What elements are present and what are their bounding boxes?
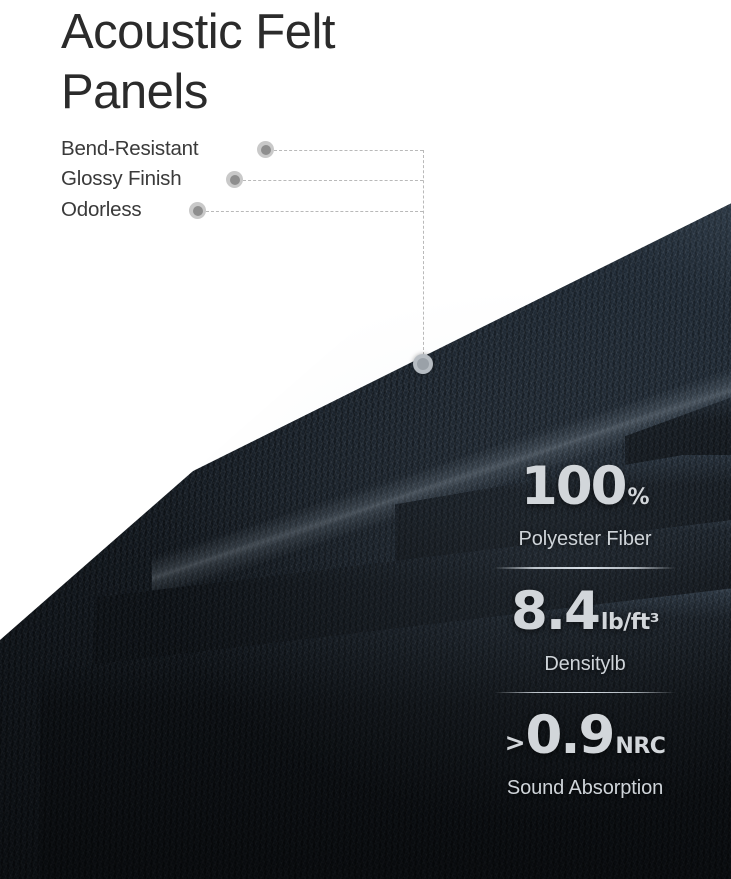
stat-value-row: 8.4lb/ft³: [470, 583, 700, 651]
stat-divider-1: [494, 567, 676, 569]
stat-number: 100: [521, 458, 626, 515]
product-marketing-image: Acoustic Felt Panels Bend-Resistant Glos…: [0, 0, 731, 879]
stat-label: Densitylb: [470, 653, 700, 676]
stat-polyester-fiber: 100% Polyester Fiber: [470, 458, 700, 551]
stat-density: 8.4lb/ft³ Densitylb: [470, 583, 700, 676]
stat-number: 8.4: [511, 583, 599, 640]
callout-dash-glossy-finish: [243, 180, 423, 181]
callout-dot-odorless: [189, 202, 206, 219]
stat-value-row: 100%: [470, 458, 700, 526]
feature-callout-group: Bend-Resistant Glossy Finish Odorless: [0, 0, 731, 420]
stat-unit: NRC: [615, 718, 665, 775]
callout-dash-bend-resistant: [274, 150, 423, 151]
callout-label: Glossy Finish: [61, 167, 181, 191]
product-stats-overlay: 100% Polyester Fiber 8.4lb/ft³ Densitylb…: [470, 458, 700, 800]
stat-value-row: >0.9NRC: [470, 707, 700, 775]
callout-dot-bend-resistant: [257, 141, 274, 158]
callout-bend-resistant: Bend-Resistant: [61, 136, 198, 162]
callout-glossy-finish: Glossy Finish: [61, 166, 181, 192]
stat-sound-absorption: >0.9NRC Sound Absorption: [470, 707, 700, 800]
callout-dash-odorless: [206, 211, 423, 212]
stat-divider-2: [494, 692, 676, 694]
callout-odorless: Odorless: [61, 197, 141, 223]
stat-unit: lb/ft³: [601, 594, 659, 651]
stat-number: 0.9: [526, 707, 614, 764]
stat-label: Polyester Fiber: [470, 528, 700, 551]
callout-vertical-connector: [423, 150, 424, 355]
callout-endpoint-marker: [413, 354, 433, 374]
stat-prefix: >: [505, 714, 524, 771]
callout-label: Bend-Resistant: [61, 137, 198, 161]
callout-label: Odorless: [61, 198, 141, 222]
callout-dot-glossy-finish: [226, 171, 243, 188]
stat-label: Sound Absorption: [470, 777, 700, 800]
stat-unit: %: [628, 469, 650, 526]
